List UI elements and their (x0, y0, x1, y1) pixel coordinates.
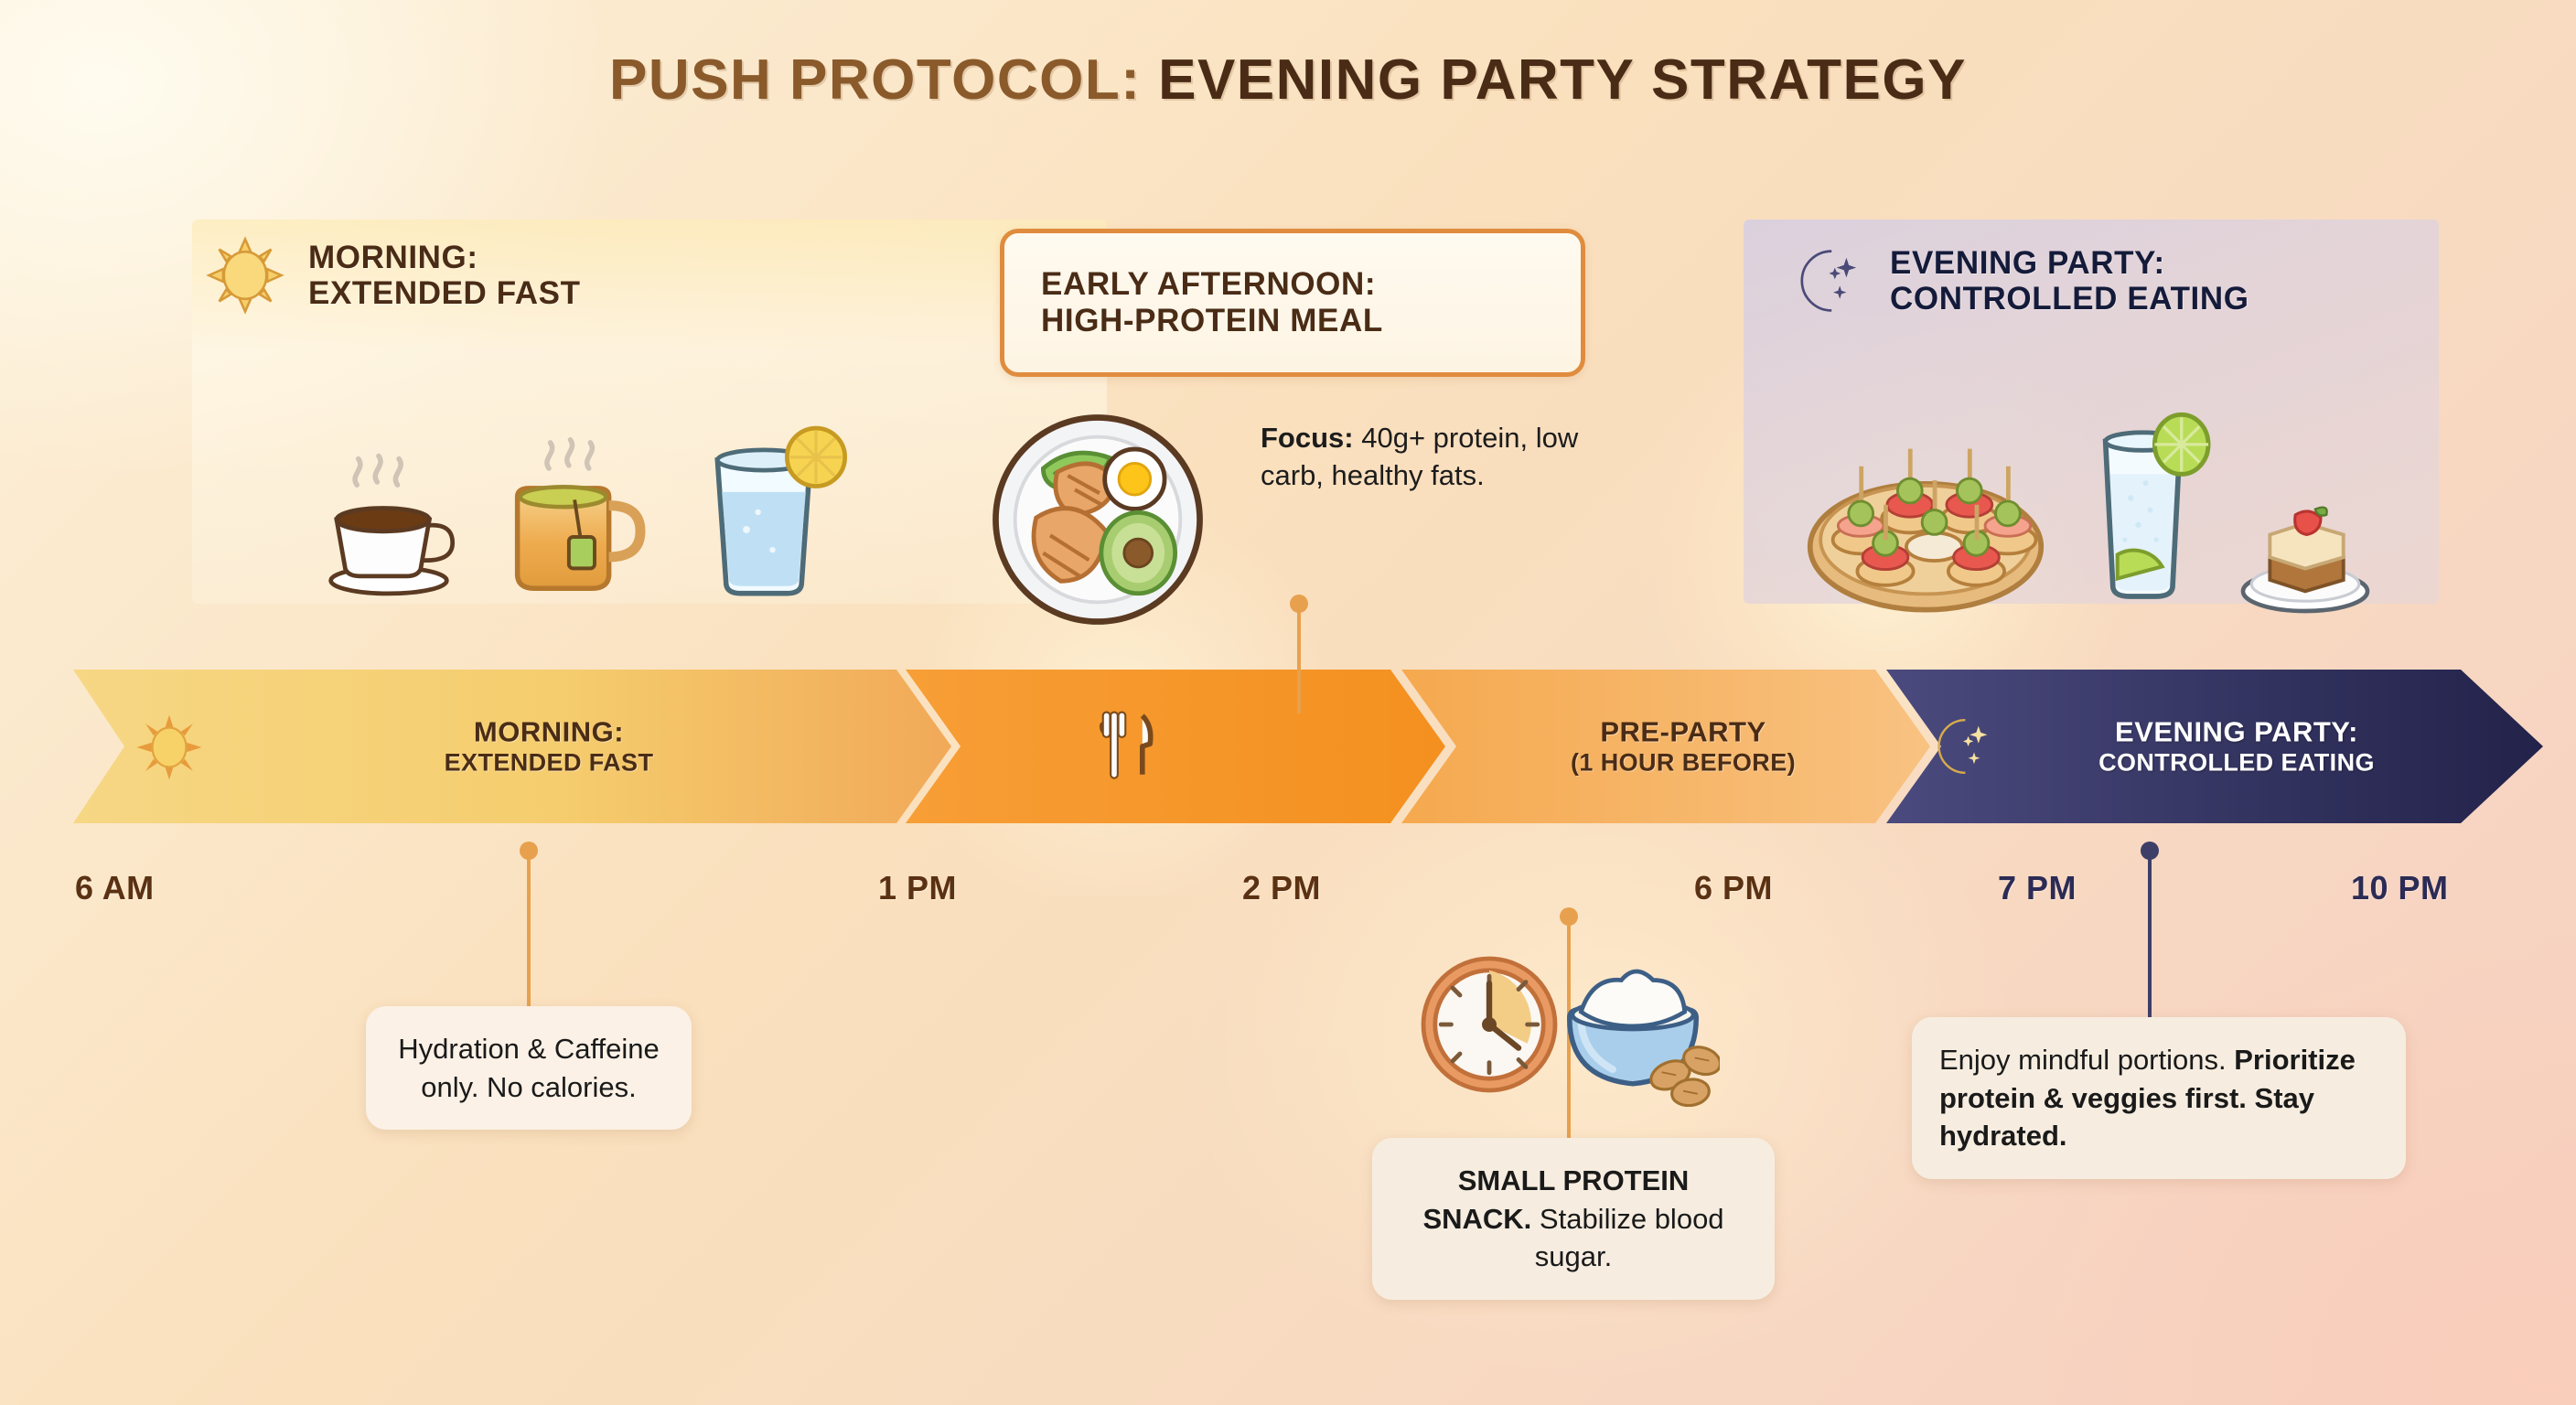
morning-panel-header: MORNING: EXTENDED FAST (206, 236, 581, 315)
time-label-2pm: 2 PM (1242, 869, 1321, 907)
sparkling-water-lime-icon (2063, 412, 2214, 608)
connector-evening (2141, 842, 2159, 1024)
connector-line (527, 851, 531, 1012)
afternoon-focus-note: Focus: 40g+ protein, low carb, healthy f… (1261, 419, 1626, 494)
water-glass-lemon-icon (677, 416, 851, 608)
afternoon-panel-card: EARLY AFTERNOON: HIGH-PROTEIN MEAL (1000, 229, 1585, 377)
timeline-label-evening: EVENING PARTY: CONTROLLED EATING (2012, 715, 2461, 777)
moon-stars-icon (1784, 240, 1866, 322)
time-label-6pm: 6 PM (1694, 869, 1773, 907)
moon-stars-icon (1923, 710, 1996, 783)
clock-icon (1416, 951, 1562, 1098)
timeline-segment-preparty-wrap: PRE-PARTY (1 HOUR BEFORE) (1464, 657, 1903, 836)
sun-icon (135, 713, 203, 781)
callout-morning: Hydration & Caffeine only. No calories. (366, 1006, 692, 1130)
connector-line (1297, 604, 1301, 713)
evening-panel-title-line1: EVENING PARTY: (1890, 245, 2249, 281)
page-title-lead: PUSH PROTOCOL: (609, 48, 1141, 112)
timeline-segment-morning-wrap: MORNING: EXTENDED FAST (256, 657, 842, 836)
morning-panel-title-line2: EXTENDED FAST (308, 275, 581, 311)
coffee-cup-icon (302, 430, 476, 604)
timeline-segment-noon (906, 670, 1445, 823)
callout-snack-rest: Stabilize blood sugar. (1531, 1203, 1723, 1273)
timeline-label-preparty-line1: PRE-PARTY (1464, 715, 1903, 748)
callout-morning-text: Hydration & Caffeine only. No calories. (398, 1033, 659, 1103)
afternoon-panel-title-line2: HIGH-PROTEIN MEAL (1041, 303, 1581, 339)
timeline-segment-evening-wrap: EVENING PARTY: CONTROLLED EATING (2012, 657, 2461, 836)
yogurt-almonds-icon (1546, 951, 1720, 1107)
timeline-arrow: MORNING: EXTENDED FAST PRE-PARTY (1 HOUR… (73, 657, 2543, 836)
timeline-label-morning-line1: MORNING: (256, 715, 842, 748)
time-label-10pm: 10 PM (2351, 869, 2449, 907)
callout-evening-plain: Enjoy mindful portions. (1939, 1044, 2234, 1076)
evening-panel-title-line2: CONTROLLED EATING (1890, 281, 2249, 316)
protein-plate-icon (983, 405, 1212, 634)
timeline-label-preparty-line2: (1 HOUR BEFORE) (1464, 748, 1903, 777)
time-label-6am: 6 AM (75, 869, 155, 907)
timeline-label-morning-line2: EXTENDED FAST (256, 748, 842, 777)
morning-panel-title-line1: MORNING: (308, 240, 581, 275)
timeline-label-preparty: PRE-PARTY (1 HOUR BEFORE) (1464, 715, 1903, 777)
time-label-7pm: 7 PM (1998, 869, 2077, 907)
fork-knife-icon (1089, 708, 1165, 785)
callout-snack: SMALL PROTEIN SNACK. Stabilize blood sug… (1372, 1138, 1775, 1300)
connector-line (2148, 851, 2152, 1024)
sun-icon (206, 236, 284, 315)
afternoon-focus-label: Focus: (1261, 422, 1354, 454)
callout-evening: Enjoy mindful portions. Prioritize prote… (1912, 1017, 2406, 1179)
page-title-rest: EVENING PARTY STRATEGY (1141, 48, 1967, 112)
timeline-label-evening-line2: CONTROLLED EATING (2012, 748, 2461, 777)
page-title: PUSH PROTOCOL: EVENING PARTY STRATEGY (0, 48, 2576, 113)
evening-panel-header: EVENING PARTY: CONTROLLED EATING (1784, 240, 2249, 322)
afternoon-panel-title-line1: EARLY AFTERNOON: (1041, 266, 1581, 303)
appetizer-platter-icon (1793, 421, 2058, 622)
tea-mug-icon (485, 423, 659, 606)
dessert-square-icon (2227, 476, 2383, 622)
timeline-label-morning: MORNING: EXTENDED FAST (256, 715, 842, 777)
connector-afternoon (1290, 595, 1308, 713)
timeline-label-evening-line1: EVENING PARTY: (2012, 715, 2461, 748)
time-label-1pm: 1 PM (878, 869, 957, 907)
connector-morning (520, 842, 538, 1012)
